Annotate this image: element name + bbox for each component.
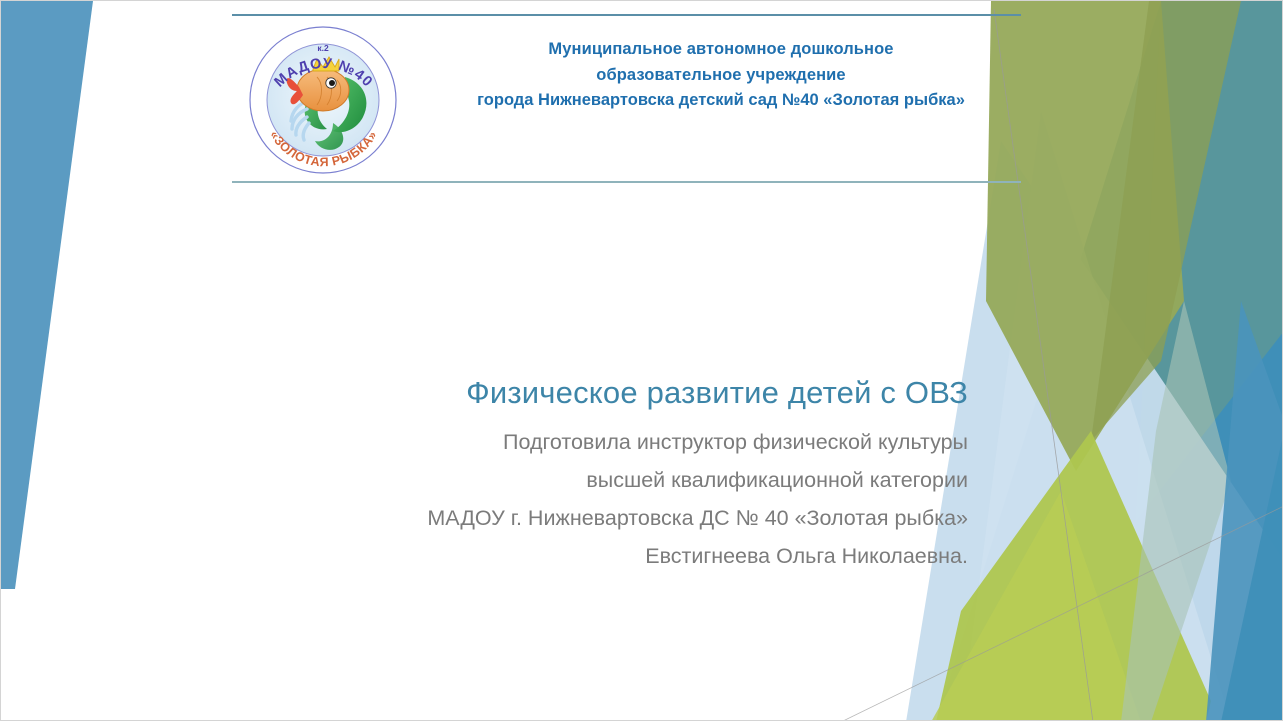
right-olive-wedge-2 xyxy=(1091,1,1241,441)
right-sliver-blue xyxy=(1206,301,1283,721)
header-rule-top xyxy=(232,14,1021,16)
logo-fish-pupil xyxy=(329,80,335,86)
right-pale-blue-upper xyxy=(961,111,1231,721)
right-sliver-blue-2 xyxy=(1221,431,1283,721)
right-teal-wedge xyxy=(1136,1,1283,521)
subtitle-line-3: МАДОУ г. Нижневартовска ДС № 40 «Золотая… xyxy=(301,499,968,537)
header-rule-bottom xyxy=(232,181,1021,183)
subtitle-line-1: Подготовила инструктор физической культу… xyxy=(301,423,968,461)
subtitle-line-4: Евстигнеева Ольга Николаевна. xyxy=(301,537,968,575)
slide-subtitle: Подготовила инструктор физической культу… xyxy=(301,423,968,575)
header-line-2: образовательное учреждение xyxy=(421,63,1021,89)
organization-logo: МАДОУ №40 к.2 «ЗОЛОТАЯ РЫБКА» xyxy=(247,25,400,175)
slide-title-block: Физическое развитие детей с ОВЗ Подготов… xyxy=(301,373,968,575)
header-organization-name: Муниципальное автономное дошкольное обра… xyxy=(421,37,1021,114)
presentation-slide: МАДОУ №40 к.2 «ЗОЛОТАЯ РЫБКА» Муниципаль… xyxy=(0,0,1283,721)
logo-graphic: МАДОУ №40 к.2 «ЗОЛОТАЯ РЫБКА» xyxy=(247,25,400,175)
thin-diagonal-line-1 xyxy=(994,9,1093,721)
left-blue-wedge xyxy=(1,1,93,589)
logo-arc-top-sub: к.2 xyxy=(317,43,329,53)
bottom-green-wedge xyxy=(936,431,1211,721)
header-line-3: города Нижневартовска детский сад №40 «З… xyxy=(421,88,1021,114)
header-line-1: Муниципальное автономное дошкольное xyxy=(421,37,1021,63)
right-sliver-lightgreen xyxy=(1121,301,1231,721)
subtitle-line-2: высшей квалификационной категории xyxy=(301,461,968,499)
page-title: Физическое развитие детей с ОВЗ xyxy=(301,373,968,413)
